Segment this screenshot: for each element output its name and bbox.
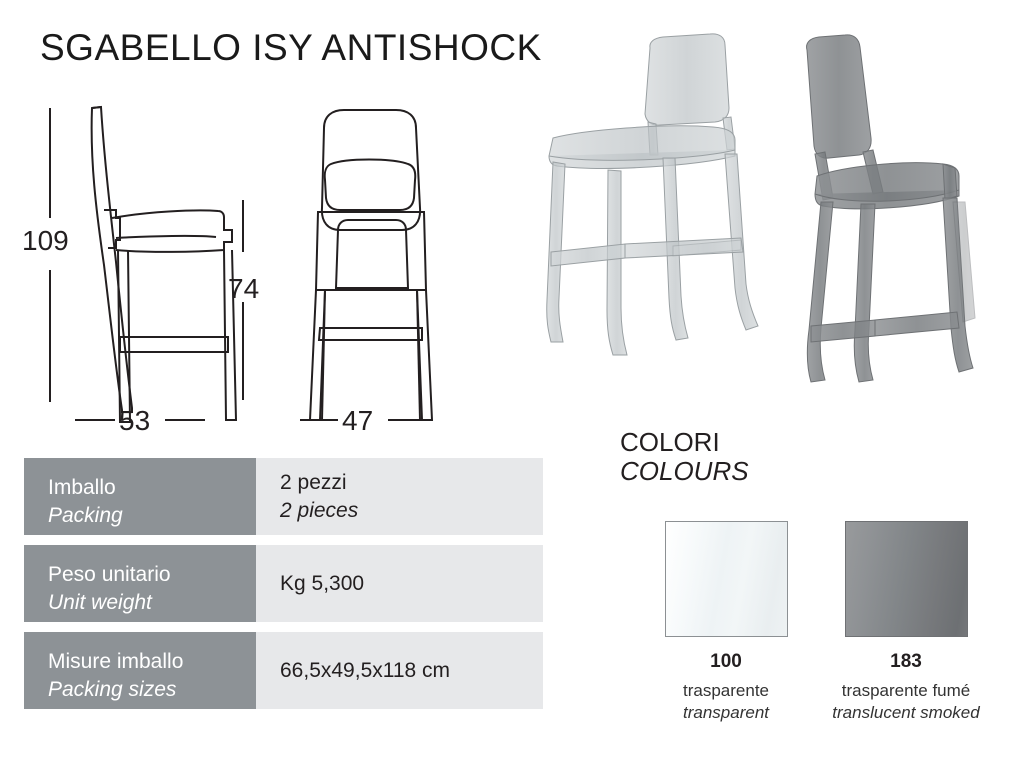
technical-drawings: 109 74 53 [0,90,560,445]
spec-label-cell: Misure imballo Packing sizes [24,632,256,709]
spec-value-it: 2 pezzi [280,469,543,497]
table-row: Imballo Packing 2 pezzi 2 pieces [24,458,543,535]
colours-heading-it: COLORI [620,428,1010,457]
dim-label-74: 74 [228,273,259,304]
spec-value-cell: Kg 5,300 [256,545,543,622]
table-row: Peso unitario Unit weight Kg 5,300 [24,545,543,622]
spec-label-it: Misure imballo [48,648,256,676]
swatch-code: 100 [636,651,816,673]
swatch-name-it: trasparente [636,680,816,702]
colours-heading-en: COLOURS [620,457,1010,486]
spec-value-cell: 2 pezzi 2 pieces [256,458,543,535]
spec-label-cell: Peso unitario Unit weight [24,545,256,622]
product-datasheet-page: SGABELLO ISY ANTISHOCK [0,0,1024,768]
spec-label-it: Peso unitario [48,561,256,589]
colours-heading: COLORI COLOURS [620,428,1010,486]
colour-swatch-list: 100 trasparente transparent 183 traspare… [620,521,1010,724]
swatch-chip[interactable] [845,521,968,637]
spec-value-en: 2 pieces [280,497,543,525]
technical-drawings-svg: 109 74 53 [0,90,560,445]
swatch-name-en: transparent [636,702,816,724]
colour-swatch-183[interactable]: 183 trasparente fumé translucent smoked [816,521,996,724]
page-title: SGABELLO ISY ANTISHOCK [40,27,542,69]
spec-label-en: Packing sizes [48,676,256,704]
spec-label-en: Packing [48,502,256,530]
spec-label-it: Imballo [48,474,256,502]
product-photos-svg [545,30,1024,450]
swatch-code: 183 [816,651,996,673]
side-view-outline [92,107,236,422]
dim-label-109: 109 [22,225,69,256]
dim-label-53: 53 [119,405,150,436]
spec-label-en: Unit weight [48,589,256,617]
product-photos [545,30,1024,450]
spec-value-cell: 66,5x49,5x118 cm [256,632,543,709]
dim-label-47: 47 [342,405,373,436]
colour-swatch-100[interactable]: 100 trasparente transparent [636,521,816,724]
colours-section: COLORI COLOURS 100 trasparente transpare… [620,428,1010,724]
swatch-chip[interactable] [665,521,788,637]
front-view-outline [310,110,432,420]
spec-table: Imballo Packing 2 pezzi 2 pieces Peso un… [24,458,543,719]
swatch-name-en: translucent smoked [816,702,996,724]
stool-smoked [807,35,975,382]
spec-value-it: Kg 5,300 [280,570,543,598]
swatch-name-it: trasparente fumé [816,680,996,702]
spec-value-it: 66,5x49,5x118 cm [280,657,543,685]
spec-label-cell: Imballo Packing [24,458,256,535]
stool-transparent [547,34,758,355]
table-row: Misure imballo Packing sizes 66,5x49,5x1… [24,632,543,709]
